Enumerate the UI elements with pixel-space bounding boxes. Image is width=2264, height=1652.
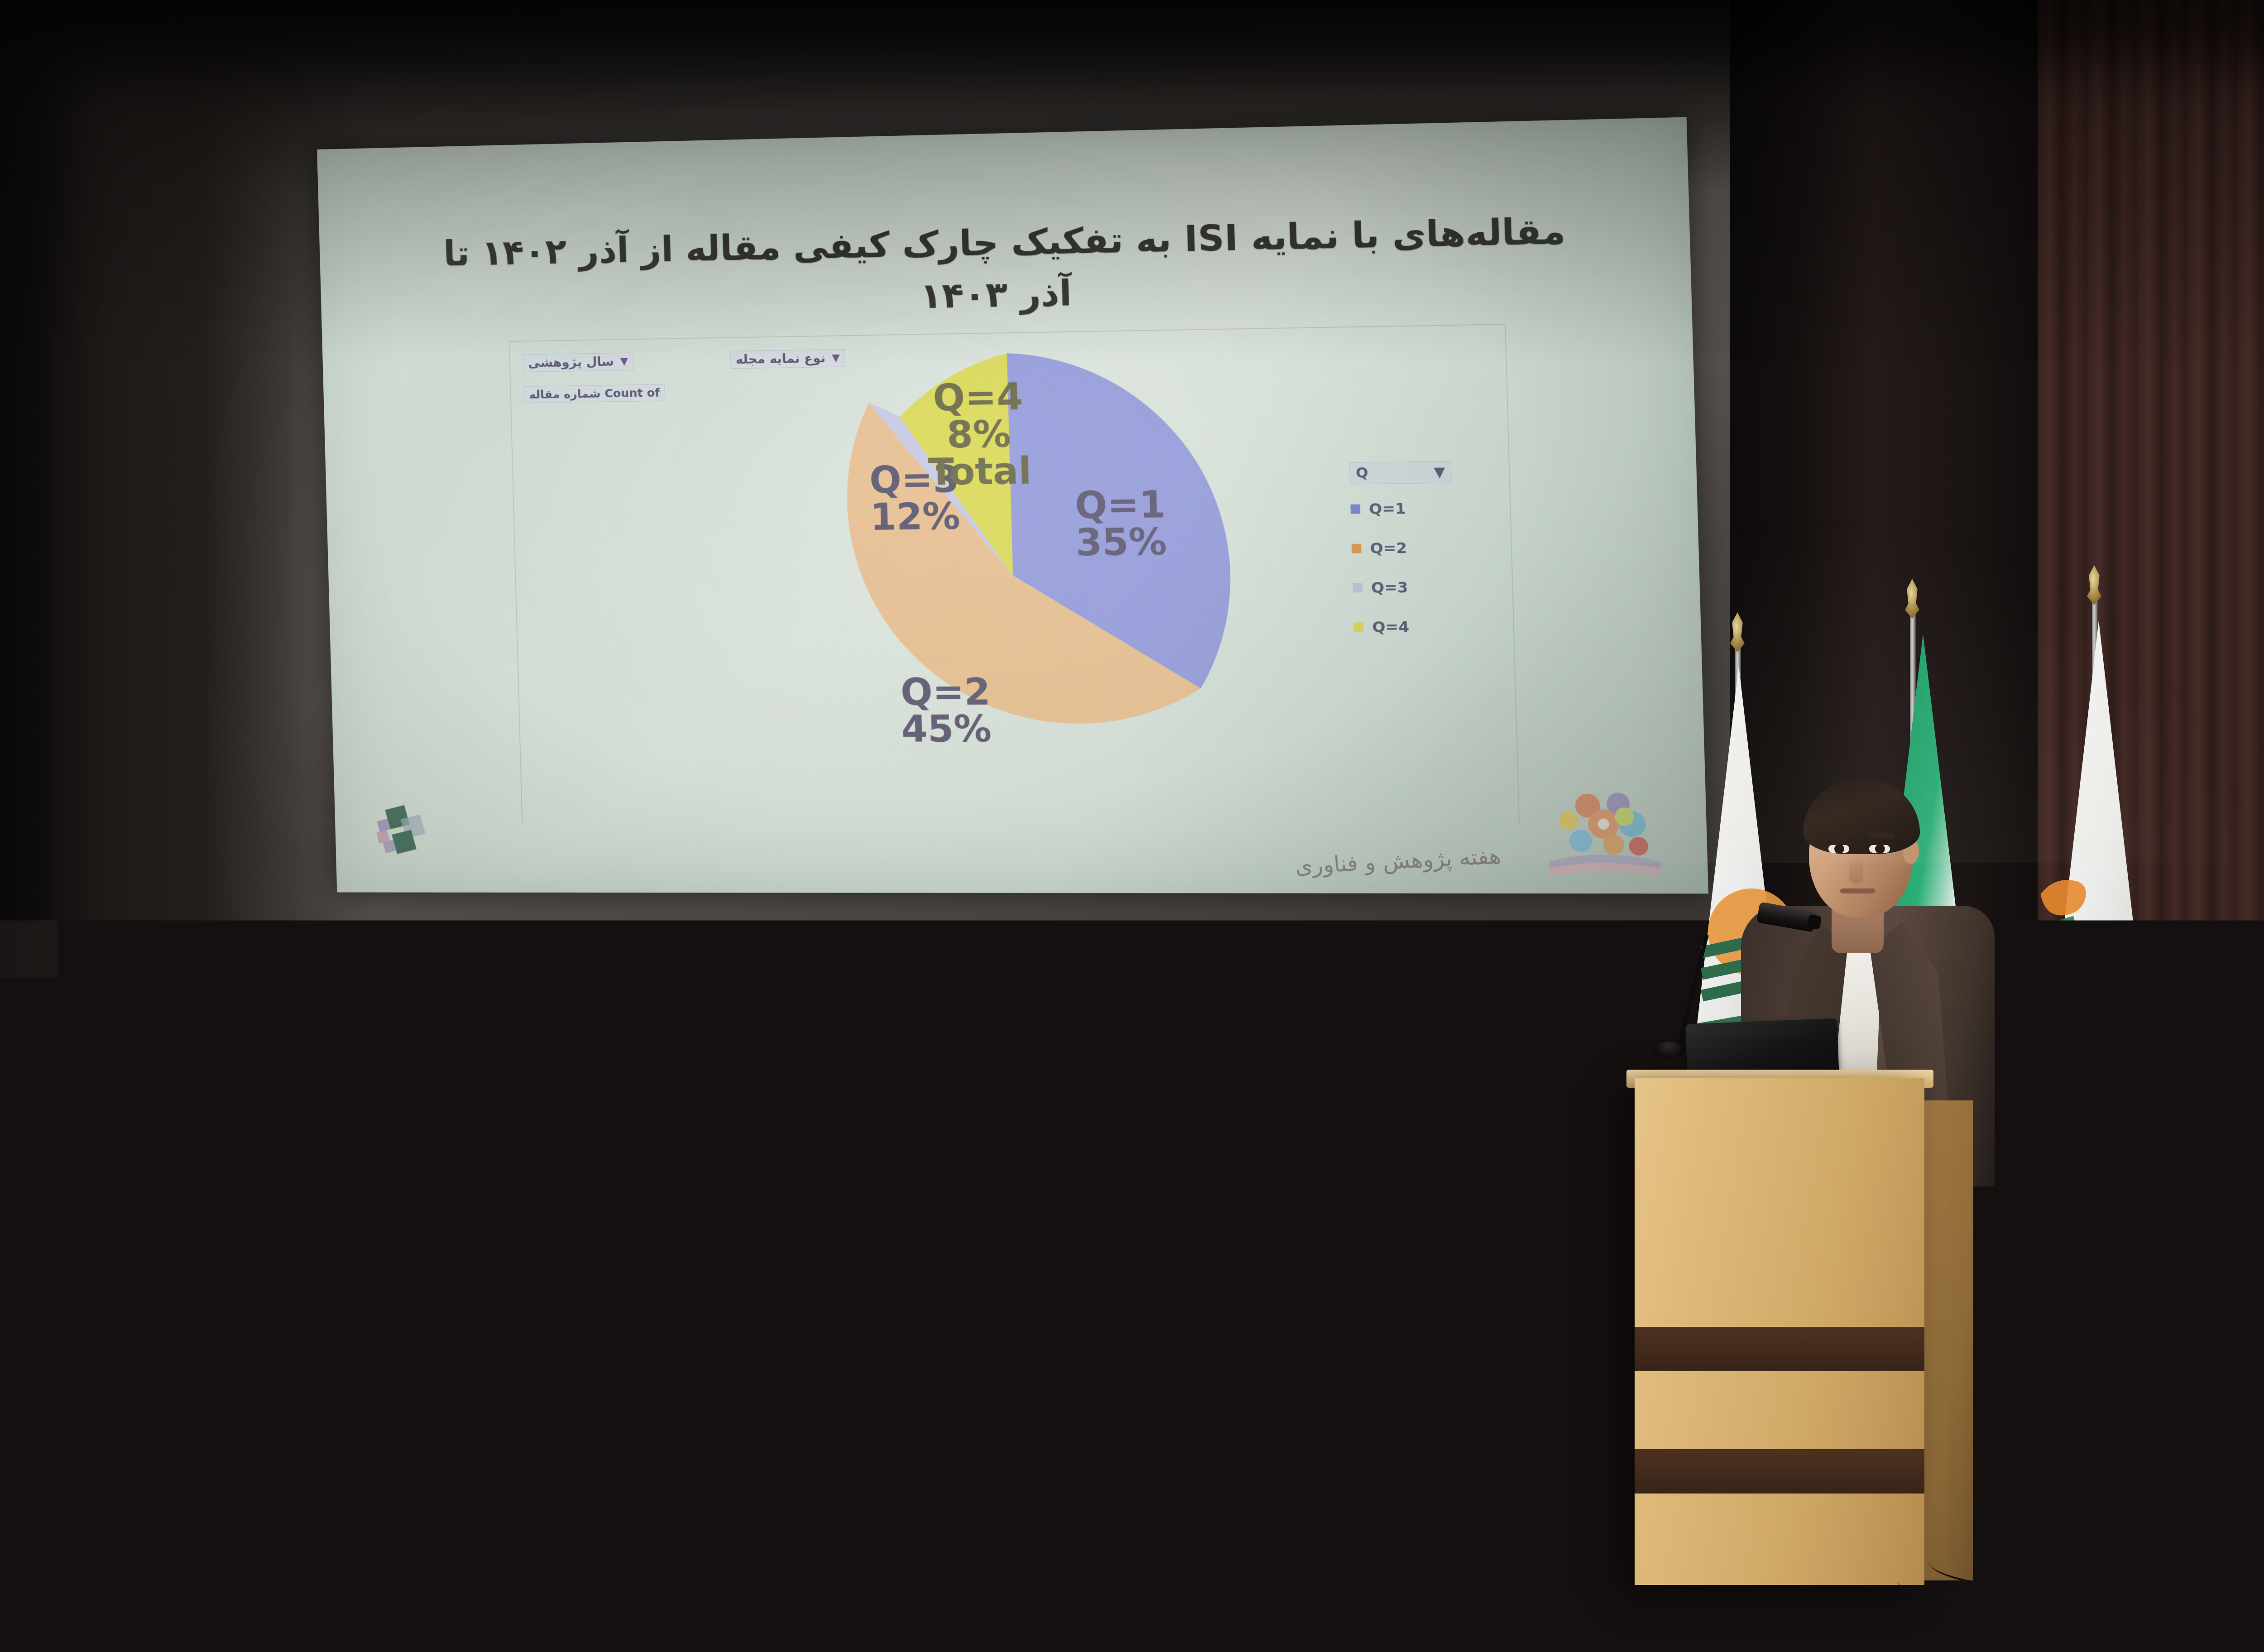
water-bottle xyxy=(1006,1105,1030,1202)
projected-slide: مقاله‌های با نمایه ISI به تفکیک چارک کیف… xyxy=(317,117,1708,894)
decorative-pole xyxy=(2077,1304,2082,1531)
pie-chart: Q=1 35% Q=2 45% Q=3 12% Q=4 8% Total xyxy=(772,338,1258,810)
legend-item-q1[interactable]: Q=1 xyxy=(1350,499,1511,518)
desk-microphone-base xyxy=(1038,1181,1073,1201)
pie-label-q3-pct: 12% xyxy=(870,495,961,538)
desk-panel-engraving: Tarbiat Modares university xyxy=(474,1346,672,1401)
slide-title: مقاله‌های با نمایه ISI به تفکیک چارک کیف… xyxy=(419,204,1593,331)
legend-item-q2[interactable]: Q=2 xyxy=(1352,538,1512,557)
presenter-nose xyxy=(1849,854,1863,884)
legend-swatch-q4 xyxy=(1354,622,1364,632)
legend-filter-button[interactable]: Q ▼ xyxy=(1349,461,1452,484)
water-bottle xyxy=(676,1115,701,1213)
chart-legend: Q ▼ Q=1 Q=2 Q=3 Q=4 xyxy=(1349,460,1515,658)
legend-item-q3[interactable]: Q=3 xyxy=(1353,577,1513,597)
research-week-logo xyxy=(1520,783,1684,885)
desk-panel: دانشگاه تربیت مدرس xyxy=(772,1237,1192,1497)
desk-panel-engraving: دانشگاه تربیت مدرس xyxy=(835,1347,1130,1387)
presenter-mouth xyxy=(1840,888,1875,893)
tissue-box-pattern xyxy=(804,1153,889,1210)
tissue-box-pattern xyxy=(115,1162,171,1220)
pie-label-q4-extra: Total xyxy=(928,449,1032,494)
bottle-cap xyxy=(1011,1092,1025,1106)
presenter-eye-left xyxy=(1828,845,1849,853)
slicer-research-year[interactable]: ▼ سال پژوهشی xyxy=(523,352,633,372)
bottle-cap xyxy=(681,1103,696,1116)
legend-swatch-q3 xyxy=(1353,583,1362,593)
legend-label: Q=2 xyxy=(1370,539,1407,557)
presenter-eye-right xyxy=(1869,845,1890,853)
value-field-caption: Count of شماره مقاله xyxy=(523,384,665,403)
panel-chair xyxy=(331,1105,521,1223)
legend-label: Q=3 xyxy=(1371,578,1409,596)
bottle-cap xyxy=(205,1114,219,1128)
pie-label-q1-pct: 35% xyxy=(1075,520,1167,564)
desk-tag xyxy=(391,1255,409,1268)
conference-hall-scene: مقاله‌های با نمایه ISI به تفکیک چارک کیف… xyxy=(0,0,2264,1652)
podium-accent-stripe xyxy=(1635,1327,1924,1371)
desk-panel-engraving: دانشگاه تربیت مدرس xyxy=(36,1359,331,1399)
slicer-label: سال پژوهشی xyxy=(528,355,614,370)
pie-label-q2-pct: 45% xyxy=(901,707,992,751)
floor-shadow xyxy=(0,1440,724,1652)
legend-swatch-q1 xyxy=(1350,504,1360,514)
desk-microphone-base xyxy=(294,1182,330,1202)
podium-accent-stripe xyxy=(1635,1449,1924,1494)
legend-label: Q=1 xyxy=(1369,499,1406,518)
legend-item-q4[interactable]: Q=4 xyxy=(1353,617,1514,636)
podium-microphone-base xyxy=(1653,1042,1684,1058)
legend-title: Q xyxy=(1356,465,1368,482)
flag-tmu-emblem: Tarbiat Modares University xyxy=(2029,851,2169,1268)
water-bottle xyxy=(200,1127,224,1224)
chevron-down-icon: ▼ xyxy=(1434,464,1445,480)
projection-screen: مقاله‌های با نمایه ISI به تفکیک چارک کیف… xyxy=(317,117,1708,894)
legend-swatch-q2 xyxy=(1352,544,1362,553)
podium-side xyxy=(1920,1100,1973,1580)
ministry-logo xyxy=(356,789,495,880)
research-week-caption: هفته پژوهش و فناوری xyxy=(1294,843,1502,879)
value-field-label: Count of شماره مقاله xyxy=(529,386,660,401)
pie-chart-svg: Q=1 35% Q=2 45% Q=3 12% Q=4 8% Total xyxy=(772,338,1258,810)
filter-icon: ▼ xyxy=(620,356,628,368)
desk-tag xyxy=(0,1261,19,1273)
desk-tag xyxy=(797,1250,815,1262)
legend-label: Q=4 xyxy=(1372,618,1410,636)
